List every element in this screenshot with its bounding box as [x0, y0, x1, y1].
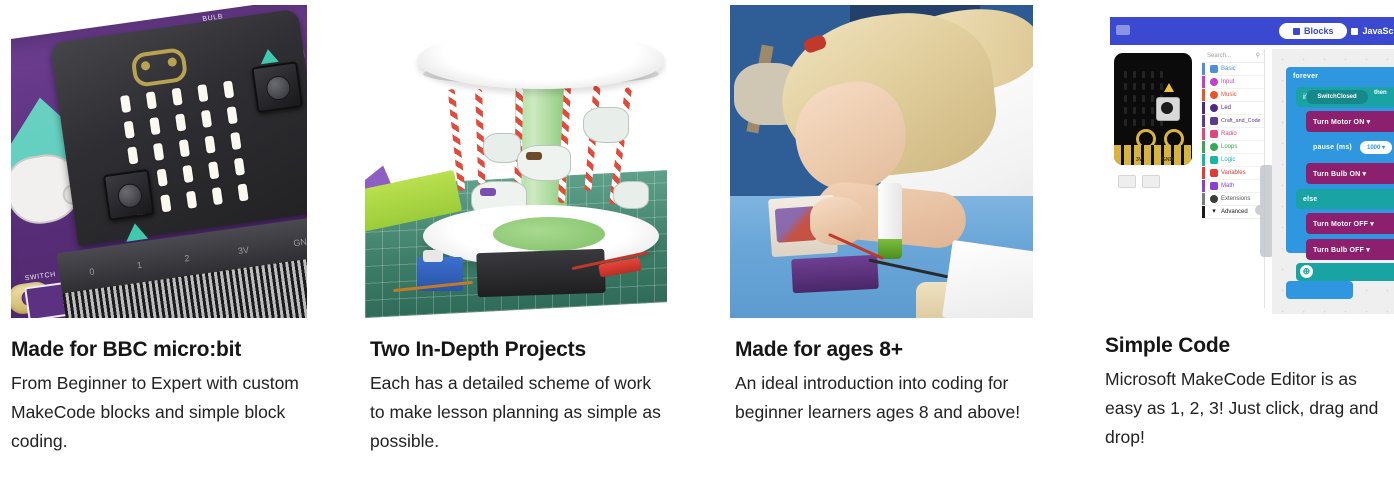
block-turn-bulb-off[interactable]: Turn Bulb OFF ▾ — [1306, 239, 1394, 260]
toolbox-category-label: Extensions — [1221, 196, 1250, 202]
toolbox-search-label: Search... — [1207, 53, 1231, 59]
block-turn-motor-off[interactable]: Turn Motor OFF ▾ — [1306, 213, 1394, 234]
teal-marker-b — [259, 48, 279, 64]
girl-coding-at-desk-photo — [730, 5, 1033, 318]
block-turn-bulb-on-label: Turn Bulb ON ▾ — [1313, 170, 1366, 178]
carousel-horse — [583, 107, 629, 143]
toolbox-category-input[interactable]: Input — [1202, 76, 1264, 89]
chevron-down-icon: ▾ — [1210, 208, 1218, 216]
feature-card-simple-code: Blocks JavaScript — [1082, 5, 1394, 498]
toolbox-category-label: Input — [1221, 79, 1234, 85]
simulator-marker-icon — [1164, 83, 1174, 92]
toolbox-category-loops[interactable]: Loops — [1202, 141, 1264, 154]
tab-blocks-label: Blocks — [1304, 26, 1334, 36]
block-turn-motor-on[interactable]: Turn Motor ON ▾ — [1306, 111, 1394, 132]
makecode-toolbox[interactable]: Search... ⚲ Basic Input Music — [1202, 49, 1265, 308]
toolbox-category-label: Craft_and_Code — [1221, 118, 1261, 124]
block-pause-value[interactable]: 1000 ▾ — [1360, 141, 1392, 154]
block-else[interactable]: else ⊖ — [1296, 189, 1394, 209]
block-if-footer[interactable]: ⊕ — [1296, 263, 1394, 281]
menu-icon[interactable] — [1116, 25, 1130, 35]
block-turn-bulb-on[interactable]: Turn Bulb ON ▾ — [1306, 163, 1394, 184]
toolbox-category-variables[interactable]: Variables — [1202, 167, 1264, 180]
feature-description: From Beginner to Expert with custom Make… — [11, 369, 311, 456]
microbit-simulator[interactable]: 3V GND — [1114, 53, 1192, 165]
microbit-breakout-board — [791, 255, 879, 293]
toolbox-category-label: Basic — [1221, 66, 1236, 72]
toolbox-category-label: Led — [1221, 105, 1231, 111]
toolbox-category-label: Math — [1221, 183, 1234, 189]
teal-marker-a — [124, 222, 148, 242]
block-pause-label: pause (ms) — [1313, 144, 1352, 151]
block-turn-motor-on-label: Turn Motor ON ▾ — [1313, 118, 1370, 126]
simulator-button-b[interactable] — [1156, 97, 1180, 121]
microbit-on-purple-breakout-board-photo: SWITCH BULB MOTOR — [11, 5, 307, 318]
block-forever-label: forever — [1293, 73, 1318, 80]
toolbox-search[interactable]: Search... ⚲ — [1202, 49, 1264, 63]
toolbox-category-math[interactable]: Math — [1202, 180, 1264, 193]
feature-card-two-in-depth-projects: Two In-Depth Projects Each has a detaile… — [360, 5, 720, 498]
simulator-pin-gnd-label: GND — [1162, 157, 1173, 163]
worksheet-card — [942, 240, 1033, 318]
carousel-horse — [483, 133, 521, 163]
tab-javascript[interactable]: JavaScript — [1351, 26, 1394, 36]
simulator-restart-button[interactable] — [1142, 175, 1160, 188]
toolbox-category-music[interactable]: Music — [1202, 89, 1264, 102]
feature-card-made-for-microbit: SWITCH BULB MOTOR — [0, 5, 360, 498]
feature-grid: SWITCH BULB MOTOR — [0, 0, 1394, 498]
block-else-label: else — [1303, 196, 1317, 203]
block-forever-footer[interactable] — [1286, 281, 1353, 299]
toolbox-category-label: Loops — [1221, 144, 1237, 150]
feature-description: Each has a detailed scheme of work to ma… — [370, 369, 666, 456]
block-condition-switchclosed[interactable]: SwitchClosed — [1306, 90, 1368, 104]
carousel-roof-plate — [417, 31, 665, 89]
toolbox-category-label: Music — [1221, 92, 1237, 98]
javascript-icon — [1351, 28, 1358, 35]
feature-title: Made for ages 8+ — [735, 338, 1082, 362]
feature-description: An ideal introduction into coding for be… — [735, 369, 1025, 427]
toolbox-category-extensions[interactable]: Extensions — [1202, 193, 1264, 206]
makecode-editor-screenshot: Blocks JavaScript — [1100, 5, 1394, 314]
tab-javascript-label: JavaScript — [1362, 26, 1394, 36]
toolbox-category-label: Variables — [1221, 170, 1246, 176]
toolbox-category-radio[interactable]: Radio — [1202, 128, 1264, 141]
toolbox-category-label: Advanced — [1221, 209, 1248, 215]
toolbox-category-led[interactable]: Led — [1202, 102, 1264, 115]
feature-card-made-for-ages-8-plus: Made for ages 8+ An ideal introduction i… — [720, 5, 1082, 498]
simulator-stop-button[interactable] — [1118, 175, 1136, 188]
block-turn-motor-off-label: Turn Motor OFF ▾ — [1313, 220, 1374, 228]
toolbox-category-craft-and-code[interactable]: Craft_and_Code — [1202, 115, 1264, 128]
simulator-pin-3v-label: 3V — [1136, 157, 1142, 163]
glue-stick — [878, 183, 902, 259]
block-turn-bulb-off-label: Turn Bulb OFF ▾ — [1313, 246, 1370, 254]
tab-blocks[interactable]: Blocks — [1279, 23, 1348, 39]
toolbox-category-label: Radio — [1221, 131, 1237, 137]
blocks-icon — [1293, 28, 1300, 35]
toolbox-category-logic[interactable]: Logic — [1202, 154, 1264, 167]
feature-description: Microsoft MakeCode Editor is as easy as … — [1105, 365, 1394, 452]
makecode-workspace[interactable]: forever if SwitchClosed then Turn Motor … — [1272, 49, 1394, 314]
carousel-horse — [613, 181, 649, 209]
makecode-topbar: Blocks JavaScript — [1110, 17, 1394, 45]
carousel-horse — [517, 145, 571, 181]
block-then-label: then — [1374, 90, 1387, 96]
microbit-button-b — [251, 61, 303, 113]
microbit-chip-board — [50, 9, 307, 247]
toolbox-category-label: Logic — [1221, 157, 1235, 163]
feature-title: Two In-Depth Projects — [370, 338, 720, 362]
microbit-logo — [130, 47, 188, 88]
expand-icon[interactable]: ⊕ — [1300, 265, 1313, 278]
microbit-with-breakout — [476, 249, 605, 297]
paper-plate-carousel-craft-photo — [365, 5, 667, 318]
microbit-button-a — [103, 169, 155, 221]
simulator-controls[interactable] — [1118, 175, 1160, 188]
green-moss-decoration — [493, 217, 605, 251]
toolbox-category-basic[interactable]: Basic — [1202, 63, 1264, 76]
simulator-edge-pins — [1114, 145, 1192, 165]
search-icon[interactable]: ⚲ — [1256, 52, 1260, 59]
feature-title: Made for BBC micro:bit — [11, 338, 360, 362]
feature-title: Simple Code — [1105, 334, 1394, 358]
